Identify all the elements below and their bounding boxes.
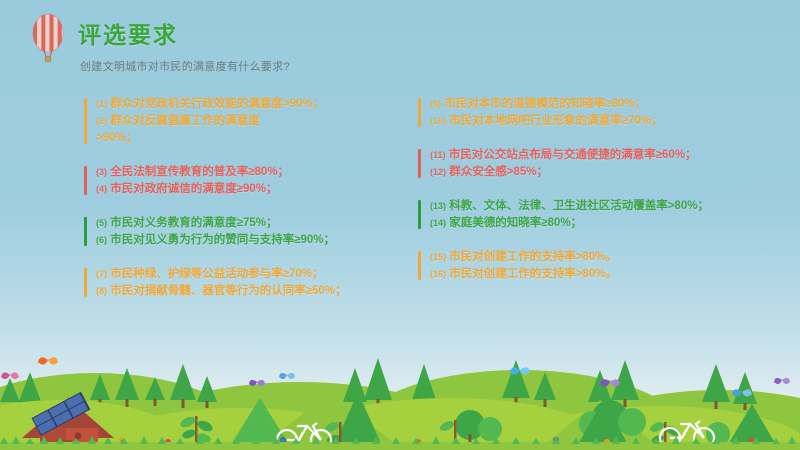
- item-number: (16): [430, 269, 446, 279]
- list-item-continuation: >90%；: [96, 130, 384, 147]
- group-accent-bar: [418, 98, 421, 127]
- slide: 评选要求 创建文明城市对市民的满意度有什么要求? (1) 群众对党政机关行政效能…: [0, 0, 800, 450]
- requirement-group: (7) 市民种绿、护绿等公益活动参与率≥70%； (8) 市民对捐献骨髓、器官等…: [84, 266, 384, 300]
- item-text: 科教、文体、法律、卫生进社区活动覆盖率>80%；: [449, 200, 709, 212]
- item-number: (13): [430, 201, 446, 211]
- item-text: 市民对政府诚信的满意度≥90%；: [110, 183, 277, 195]
- left-column: (1) 群众对党政机关行政效能的满意度>90%； (2) 群众对反腐倡廉工作的满…: [84, 96, 384, 317]
- item-text: 群众对反腐倡廉工作的满意度: [110, 115, 260, 127]
- list-item: (15) 市民对创建工作的支持率>80%。: [430, 249, 758, 266]
- item-number: (5): [96, 218, 107, 228]
- requirement-group: (15) 市民对创建工作的支持率>80%。 (16) 市民对创建工作的支持率>8…: [418, 249, 758, 283]
- item-text: 市民种绿、护绿等公益活动参与率≥70%；: [110, 268, 323, 280]
- slide-header: 评选要求 创建文明城市对市民的满意度有什么要求?: [26, 10, 290, 74]
- list-item: (8) 市民对捐献骨髓、器官等行为的认同率≥50%；: [96, 283, 384, 300]
- item-text: 市民对见义勇为行为的赞同与支持率≥90%；: [110, 234, 335, 246]
- item-number: (1): [96, 99, 107, 109]
- item-number: (12): [430, 167, 446, 177]
- list-item: (10) 市民对本地网吧行业形象的满意率≥70%；: [430, 113, 758, 130]
- requirement-group: (13) 科教、文体、法律、卫生进社区活动覆盖率>80%； (14) 家庭美德的…: [418, 198, 758, 232]
- page-subtitle: 创建文明城市对市民的满意度有什么要求?: [80, 58, 290, 74]
- group-accent-bar: [84, 217, 87, 246]
- item-number: (8): [96, 286, 107, 296]
- item-text: 市民对创建工作的支持率>80%。: [449, 268, 617, 280]
- list-item: (9) 市民对本市的道德模范的知晓率≥80%；: [430, 96, 758, 113]
- list-item: (6) 市民对见义勇为行为的赞同与支持率≥90%；: [96, 232, 384, 249]
- item-number: (2): [96, 116, 107, 126]
- group-accent-bar: [418, 251, 421, 280]
- requirement-group: (11) 市民对公交站点布局与交通便捷的满意率≥60%； (12) 群众安全感>…: [418, 147, 758, 181]
- item-text: 市民对本市的道德模范的知晓率≥80%；: [444, 98, 646, 110]
- eco-landscape-illustration: [0, 330, 800, 450]
- list-item: (4) 市民对政府诚信的满意度≥90%；: [96, 181, 384, 198]
- item-number: (3): [96, 167, 107, 177]
- list-item: (7) 市民种绿、护绿等公益活动参与率≥70%；: [96, 266, 384, 283]
- list-item: (2) 群众对反腐倡廉工作的满意度: [96, 113, 384, 130]
- item-text: 群众对党政机关行政效能的满意度>90%；: [110, 98, 324, 110]
- item-text: 市民对公交站点布局与交通便捷的满意率≥60%；: [449, 149, 697, 161]
- item-number: (10): [430, 116, 446, 126]
- list-item: (3) 全民法制宣传教育的普及率≥80%；: [96, 164, 384, 181]
- item-number: (9): [430, 99, 441, 109]
- group-accent-bar: [418, 149, 421, 178]
- item-text: 市民对创建工作的支持率>80%。: [449, 251, 617, 263]
- item-number: (11): [430, 150, 446, 160]
- requirement-group: (1) 群众对党政机关行政效能的满意度>90%； (2) 群众对反腐倡廉工作的满…: [84, 96, 384, 147]
- page-title: 评选要求: [78, 24, 290, 47]
- item-text: 全民法制宣传教育的普及率≥80%；: [110, 166, 289, 178]
- group-accent-bar: [84, 166, 87, 195]
- list-item: (13) 科教、文体、法律、卫生进社区活动覆盖率>80%；: [430, 198, 758, 215]
- item-text: 群众安全感>85%；: [449, 166, 548, 178]
- group-accent-bar: [84, 268, 87, 297]
- item-number: (14): [430, 218, 446, 228]
- right-column: (9) 市民对本市的道德模范的知晓率≥80%； (10) 市民对本地网吧行业形象…: [418, 96, 758, 300]
- item-number: (6): [96, 235, 107, 245]
- item-text: >90%；: [96, 132, 137, 144]
- list-item: (14) 家庭美德的知晓率≥80%；: [430, 215, 758, 232]
- requirement-group: (3) 全民法制宣传教育的普及率≥80%； (4) 市民对政府诚信的满意度≥90…: [84, 164, 384, 198]
- group-accent-bar: [418, 200, 421, 229]
- item-text: 市民对本地网吧行业形象的满意率≥70%；: [449, 115, 662, 127]
- requirement-group: (5) 市民对义务教育的满意度≥75%； (6) 市民对见义勇为行为的赞同与支持…: [84, 215, 384, 249]
- item-number: (7): [96, 269, 107, 279]
- item-text: 家庭美德的知晓率≥80%；: [449, 217, 582, 229]
- item-text: 市民对捐献骨髓、器官等行为的认同率≥50%；: [110, 285, 346, 297]
- hot-air-balloon-icon: [26, 12, 70, 68]
- grass-strip: [0, 442, 800, 450]
- list-item: (12) 群众安全感>85%；: [430, 164, 758, 181]
- group-accent-bar: [84, 98, 87, 144]
- list-item: (11) 市民对公交站点布局与交通便捷的满意率≥60%；: [430, 147, 758, 164]
- item-number: (15): [430, 252, 446, 262]
- requirement-group: (9) 市民对本市的道德模范的知晓率≥80%； (10) 市民对本地网吧行业形象…: [418, 96, 758, 130]
- list-item: (16) 市民对创建工作的支持率>80%。: [430, 266, 758, 283]
- list-item: (5) 市民对义务教育的满意度≥75%；: [96, 215, 384, 232]
- list-item: (1) 群众对党政机关行政效能的满意度>90%；: [96, 96, 384, 113]
- item-number: (4): [96, 184, 107, 194]
- item-text: 市民对义务教育的满意度≥75%；: [110, 217, 277, 229]
